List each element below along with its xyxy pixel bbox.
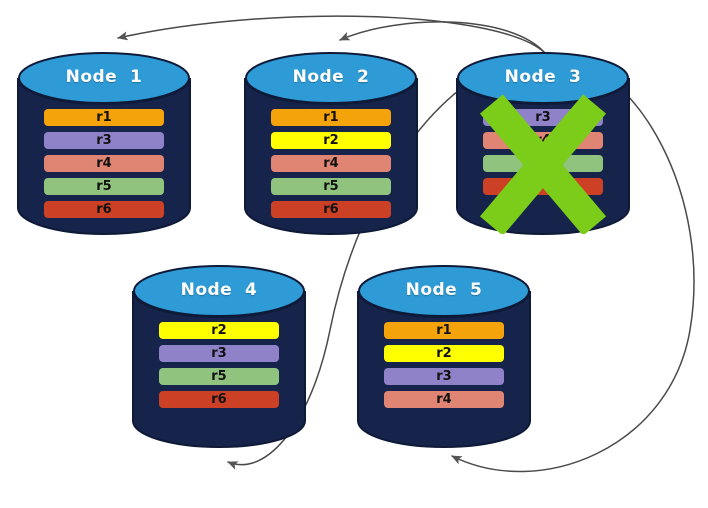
edge-node3-to-node1 xyxy=(118,16,545,53)
node-3-record-r5[interactable]: r5 xyxy=(483,155,603,172)
node-3-label: Node 3 xyxy=(457,67,629,87)
node-5-label: Node 5 xyxy=(358,280,530,300)
node-4-record-r5[interactable]: r5 xyxy=(159,368,279,385)
node-2-record-r2[interactable]: r2 xyxy=(271,132,391,149)
node-5-record-r4[interactable]: r4 xyxy=(384,391,504,408)
node-5-record-r2[interactable]: r2 xyxy=(384,345,504,362)
node-1-label: Node 1 xyxy=(18,67,190,87)
node-4-label: Node 4 xyxy=(133,280,305,300)
node-3-record-r3[interactable]: r3 xyxy=(483,109,603,126)
node-2-record-r5[interactable]: r5 xyxy=(271,178,391,195)
node-2-label: Node 2 xyxy=(245,67,417,87)
node-2-record-r4[interactable]: r4 xyxy=(271,155,391,172)
node-4[interactable]: Node 4r2r3r5r6 xyxy=(133,265,305,447)
node-1-record-r5[interactable]: r5 xyxy=(44,178,164,195)
node-4-record-r6[interactable]: r6 xyxy=(159,391,279,408)
node-2[interactable]: Node 2r1r2r4r5r6 xyxy=(245,52,417,234)
node-3-record-r6[interactable]: r6 xyxy=(483,178,603,195)
node-3-record-r4[interactable]: r4 xyxy=(483,132,603,149)
diagram-canvas: Node 1r1r3r4r5r6Node 2r1r2r4r5r6Node 3r3… xyxy=(0,0,708,508)
node-2-record-r6[interactable]: r6 xyxy=(271,201,391,218)
node-1-record-r3[interactable]: r3 xyxy=(44,132,164,149)
node-1[interactable]: Node 1r1r3r4r5r6 xyxy=(18,52,190,234)
node-4-record-r3[interactable]: r3 xyxy=(159,345,279,362)
node-2-record-r1[interactable]: r1 xyxy=(271,109,391,126)
node-1-record-r1[interactable]: r1 xyxy=(44,109,164,126)
node-5-record-r1[interactable]: r1 xyxy=(384,322,504,339)
node-1-record-r6[interactable]: r6 xyxy=(44,201,164,218)
node-1-record-r4[interactable]: r4 xyxy=(44,155,164,172)
node-5[interactable]: Node 5r1r2r3r4 xyxy=(358,265,530,447)
node-4-record-r2[interactable]: r2 xyxy=(159,322,279,339)
edge-node3-to-node2 xyxy=(340,22,545,53)
node-3[interactable]: Node 3r3r4r5r6 xyxy=(457,52,629,234)
node-5-record-r3[interactable]: r3 xyxy=(384,368,504,385)
